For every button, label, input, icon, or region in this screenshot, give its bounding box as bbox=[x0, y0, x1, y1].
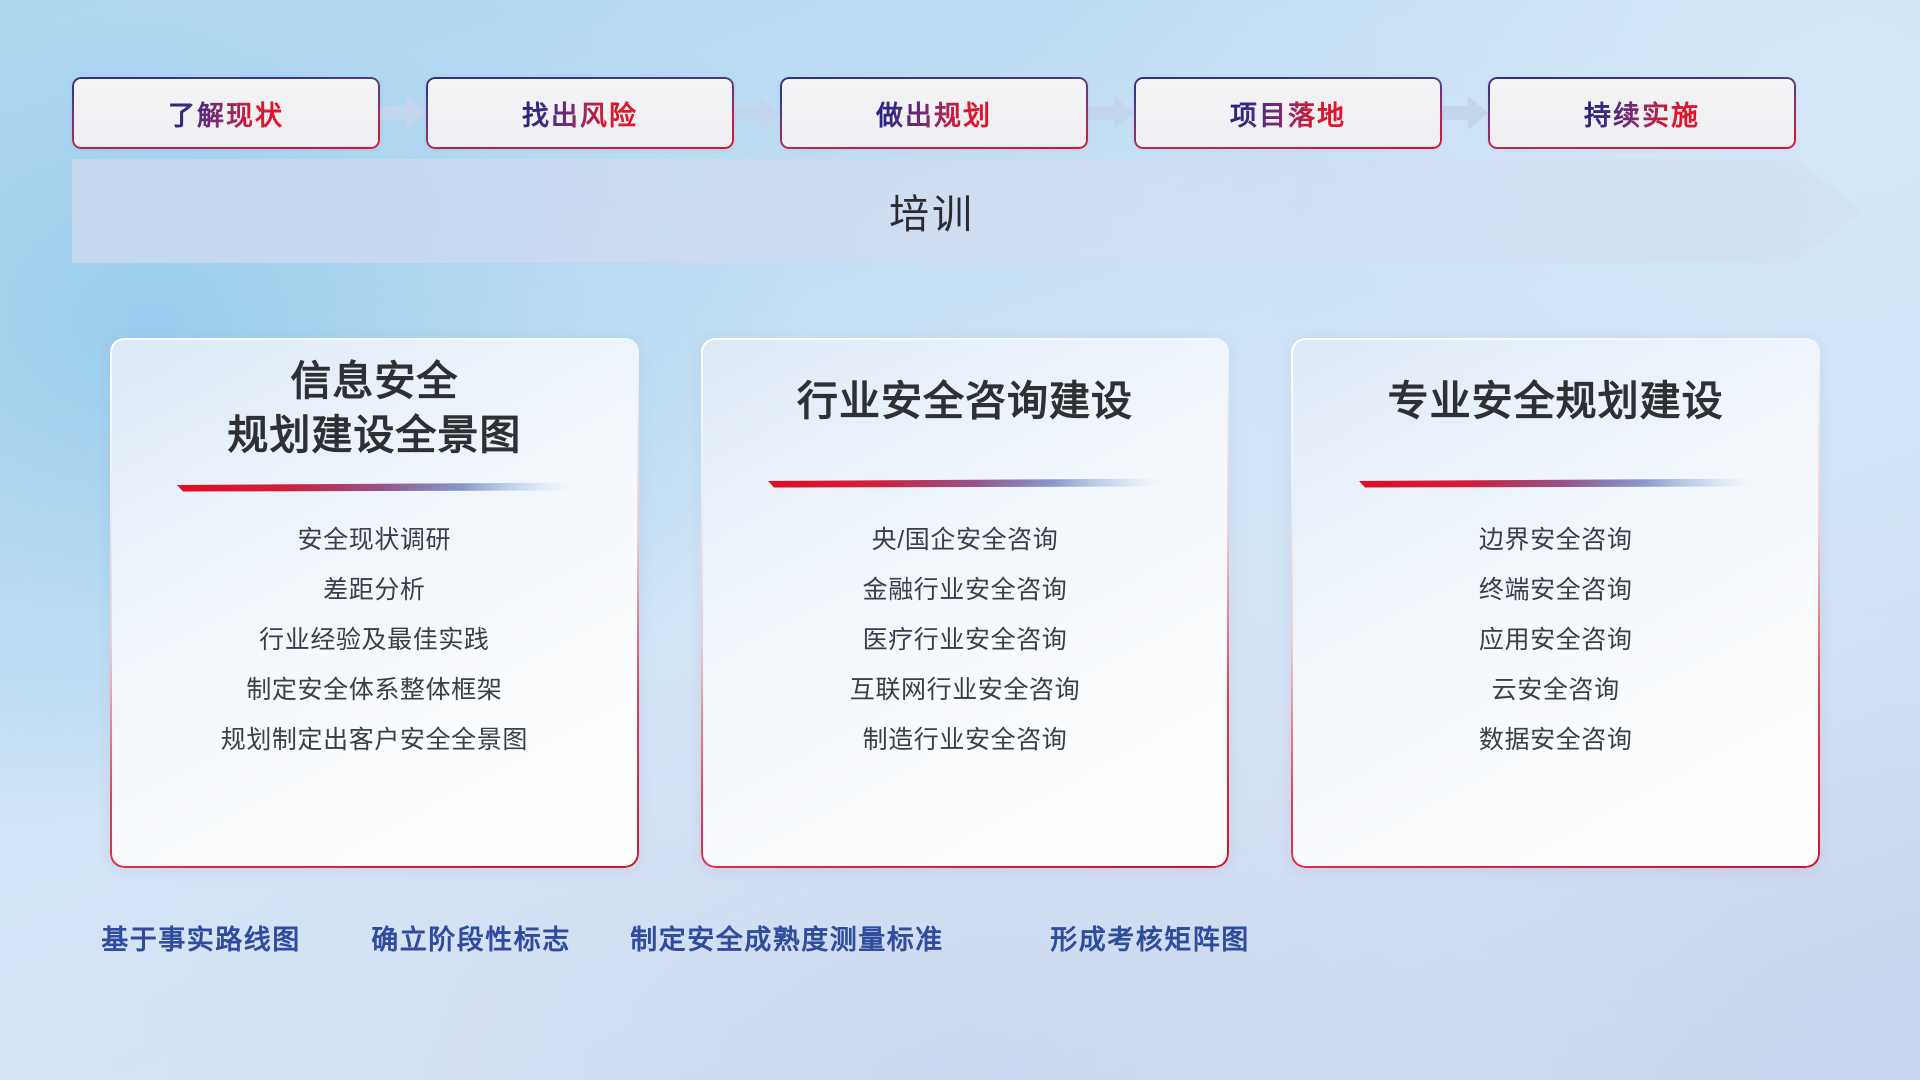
list-item: 数据安全咨询 bbox=[1479, 719, 1633, 761]
list-item: 制造行业安全咨询 bbox=[863, 719, 1068, 761]
list-item: 规划制定出客户安全全景图 bbox=[221, 719, 528, 761]
card-item-list: 央/国企安全咨询 金融行业安全咨询 医疗行业安全咨询 互联网行业安全咨询 制造行… bbox=[850, 519, 1080, 761]
list-item: 互联网行业安全咨询 bbox=[850, 669, 1080, 711]
card-divider-rule bbox=[173, 482, 575, 493]
card-title: 行业安全咨询建设 bbox=[797, 348, 1133, 428]
footnote-label: 制定安全成熟度测量标准 bbox=[630, 918, 944, 957]
list-item: 央/国企安全咨询 bbox=[872, 519, 1059, 561]
step-label: 做出规划 bbox=[876, 94, 992, 133]
service-cards: 信息安全 规划建设全景图 bbox=[110, 338, 1820, 868]
list-item: 行业经验及最佳实践 bbox=[259, 619, 489, 661]
service-card-1[interactable]: 行业安全咨询建设 bbox=[701, 338, 1230, 868]
step-label: 项目落地 bbox=[1230, 94, 1346, 133]
list-item: 应用安全咨询 bbox=[1479, 619, 1633, 661]
card-item-list: 安全现状调研 差距分析 行业经验及最佳实践 制定安全体系整体框架 规划制定出客户… bbox=[221, 519, 528, 761]
card-item-list: 边界安全咨询 终端安全咨询 应用安全咨询 云安全咨询 数据安全咨询 bbox=[1479, 519, 1633, 761]
step-box-2[interactable]: 做出规划 bbox=[780, 77, 1088, 149]
list-item: 终端安全咨询 bbox=[1479, 569, 1633, 611]
training-banner-label: 培训 bbox=[72, 157, 1862, 265]
footnote-label: 基于事实路线图 bbox=[101, 918, 301, 957]
list-item: 医疗行业安全咨询 bbox=[863, 619, 1068, 661]
card-title: 专业安全规划建设 bbox=[1388, 348, 1724, 428]
chevron-right-arrow-icon bbox=[380, 77, 426, 149]
step-label: 找出风险 bbox=[522, 94, 638, 133]
card-divider-rule bbox=[1355, 478, 1757, 489]
list-item: 制定安全体系整体框架 bbox=[246, 669, 502, 711]
service-card-2[interactable]: 专业安全规划建设 bbox=[1291, 338, 1820, 868]
chevron-right-arrow-icon bbox=[1442, 77, 1488, 149]
service-card-0[interactable]: 信息安全 规划建设全景图 bbox=[110, 338, 639, 868]
training-banner: 培训 bbox=[72, 157, 1862, 265]
list-item: 边界安全咨询 bbox=[1479, 519, 1633, 561]
list-item: 云安全咨询 bbox=[1492, 669, 1620, 711]
step-label: 持续实施 bbox=[1584, 94, 1700, 133]
step-box-3[interactable]: 项目落地 bbox=[1134, 77, 1442, 149]
step-box-1[interactable]: 找出风险 bbox=[426, 77, 734, 149]
chevron-right-arrow-icon bbox=[1088, 77, 1134, 149]
card-title: 信息安全 规划建设全景图 bbox=[227, 348, 521, 462]
chevron-right-arrow-icon bbox=[734, 77, 780, 149]
step-box-0[interactable]: 了解现状 bbox=[72, 77, 380, 149]
footnote-row: 基于事实路线图 确立阶段性标志 制定安全成熟度测量标准 形成考核矩阵图 bbox=[0, 918, 1920, 964]
step-box-4[interactable]: 持续实施 bbox=[1488, 77, 1796, 149]
footnote-label: 确立阶段性标志 bbox=[371, 918, 571, 957]
list-item: 金融行业安全咨询 bbox=[863, 569, 1068, 611]
list-item: 差距分析 bbox=[323, 569, 425, 611]
footnote-label: 形成考核矩阵图 bbox=[1050, 918, 1250, 957]
step-label: 了解现状 bbox=[168, 94, 284, 133]
card-divider-rule bbox=[764, 478, 1166, 489]
process-steps-row: 了解现状 找出风险 做出规划 项目落地 持续实施 bbox=[72, 77, 1862, 149]
list-item: 安全现状调研 bbox=[298, 519, 452, 561]
